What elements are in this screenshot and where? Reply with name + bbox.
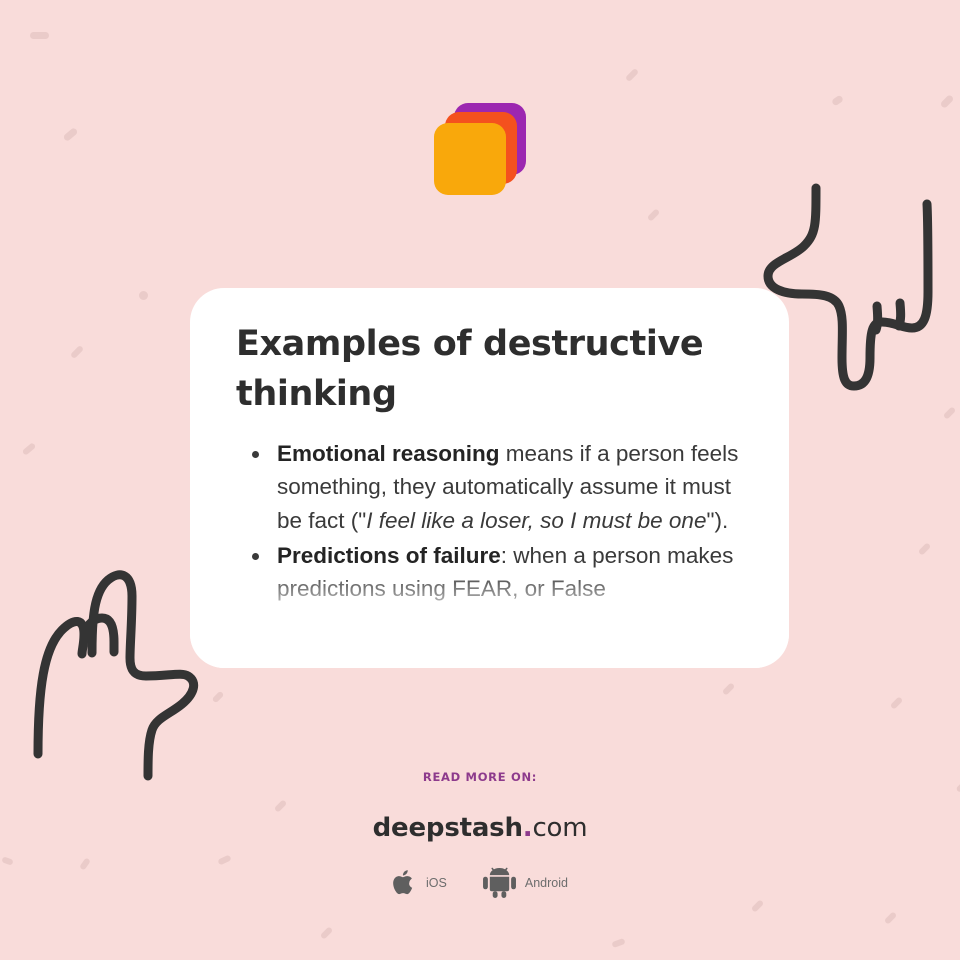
bullet-list: Emotional reasoning means if a person fe… [236, 437, 757, 604]
confetti-speck [320, 926, 333, 939]
deepstash-logo [434, 103, 526, 195]
read-more-label: READ MORE ON: [0, 770, 960, 784]
android-label: Android [525, 876, 568, 890]
bullet-dot-icon [252, 553, 259, 560]
page-title: Examples of destructive thinking [236, 320, 706, 419]
list-item: Emotional reasoning means if a person fe… [236, 437, 757, 536]
list-item: Predictions of failure: when a person ma… [236, 539, 757, 605]
confetti-speck [625, 68, 639, 82]
brand-logo-container [0, 103, 960, 195]
bullet-body-after: "). [706, 508, 728, 533]
confetti-speck [70, 345, 84, 359]
android-icon [483, 867, 516, 898]
confetti-speck [722, 682, 735, 695]
brand-name: deepstash [373, 813, 523, 843]
confetti-speck [30, 32, 49, 39]
apple-icon [392, 868, 417, 897]
brand-wordmark[interactable]: deepstash.com [0, 813, 960, 843]
bullet-dot-icon [252, 451, 259, 458]
android-store-link[interactable]: Android [483, 867, 568, 898]
app-store-links: iOS Android [0, 867, 960, 898]
confetti-speck [751, 899, 764, 912]
confetti-speck [212, 691, 225, 704]
card-inner: Examples of destructive thinking Emotion… [190, 288, 789, 605]
confetti-speck [884, 911, 897, 924]
brand-dot: . [523, 813, 533, 843]
poster-canvas: Examples of destructive thinking Emotion… [0, 0, 960, 960]
confetti-speck [890, 696, 903, 709]
bullet-lead: Emotional reasoning [277, 441, 500, 466]
logo-amber-layer [434, 123, 506, 195]
confetti-speck [139, 291, 148, 300]
brand-tld: com [532, 813, 587, 843]
confetti-speck [943, 406, 956, 419]
confetti-speck [611, 938, 625, 948]
ios-label: iOS [426, 876, 447, 890]
bullet-quote: I feel like a loser, so I must be one [366, 508, 706, 533]
bullet-lead: Predictions of failure [277, 543, 501, 568]
footer: READ MORE ON: deepstash.com iOS [0, 770, 960, 898]
confetti-speck [918, 542, 931, 555]
content-card: Examples of destructive thinking Emotion… [190, 288, 789, 668]
confetti-speck [647, 208, 660, 221]
ios-store-link[interactable]: iOS [392, 868, 447, 897]
confetti-speck [22, 442, 37, 456]
